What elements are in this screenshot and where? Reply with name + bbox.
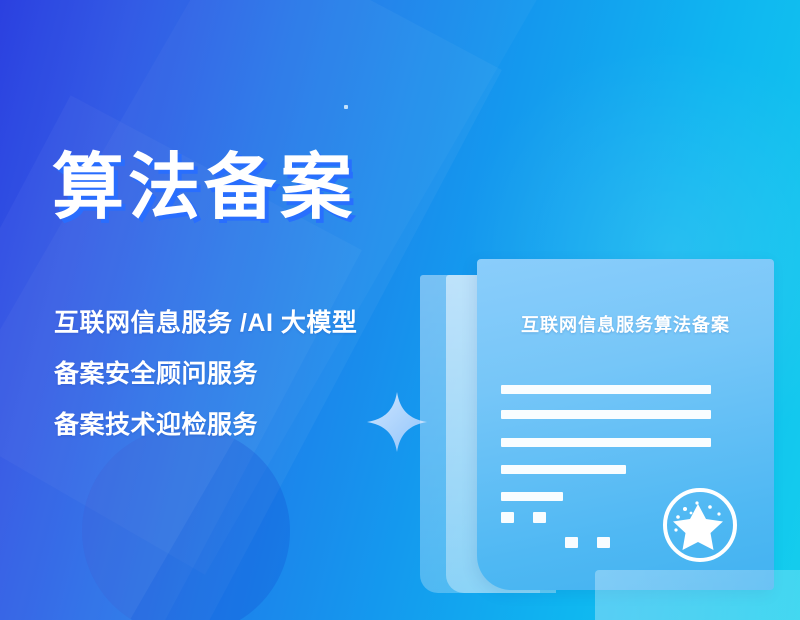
- document-text-block: [597, 537, 610, 548]
- bottom-accent-band: [595, 570, 800, 620]
- subtitle-line-2: 备案安全顾问服务: [54, 349, 434, 400]
- subtitle-line-3: 备案技术迎检服务: [54, 400, 434, 451]
- star-seal-icon: [661, 486, 739, 564]
- document-card-title: 互联网信息服务算法备案: [477, 311, 774, 337]
- document-text-line: [501, 465, 626, 474]
- document-text-line: [501, 438, 711, 447]
- document-text-line: [501, 385, 711, 394]
- document-text-block: [565, 537, 578, 548]
- document-text-block: [501, 512, 514, 523]
- background-circle: [82, 427, 290, 620]
- document-text-line: [501, 492, 563, 501]
- subtitle-line-1: 互联网信息服务 /AI 大模型: [54, 298, 434, 349]
- background-circle-stripe: [82, 427, 290, 620]
- document-text-line: [501, 410, 711, 419]
- document-text-block: [533, 512, 546, 523]
- tiny-dot-icon: [344, 105, 348, 109]
- subtitle-list: 互联网信息服务 /AI 大模型 备案安全顾问服务 备案技术迎检服务: [54, 298, 434, 451]
- page-title: 算法备案: [52, 152, 356, 224]
- promo-banner: 算法备案 互联网信息服务 /AI 大模型 备案安全顾问服务 备案技术迎检服务 互…: [0, 0, 800, 620]
